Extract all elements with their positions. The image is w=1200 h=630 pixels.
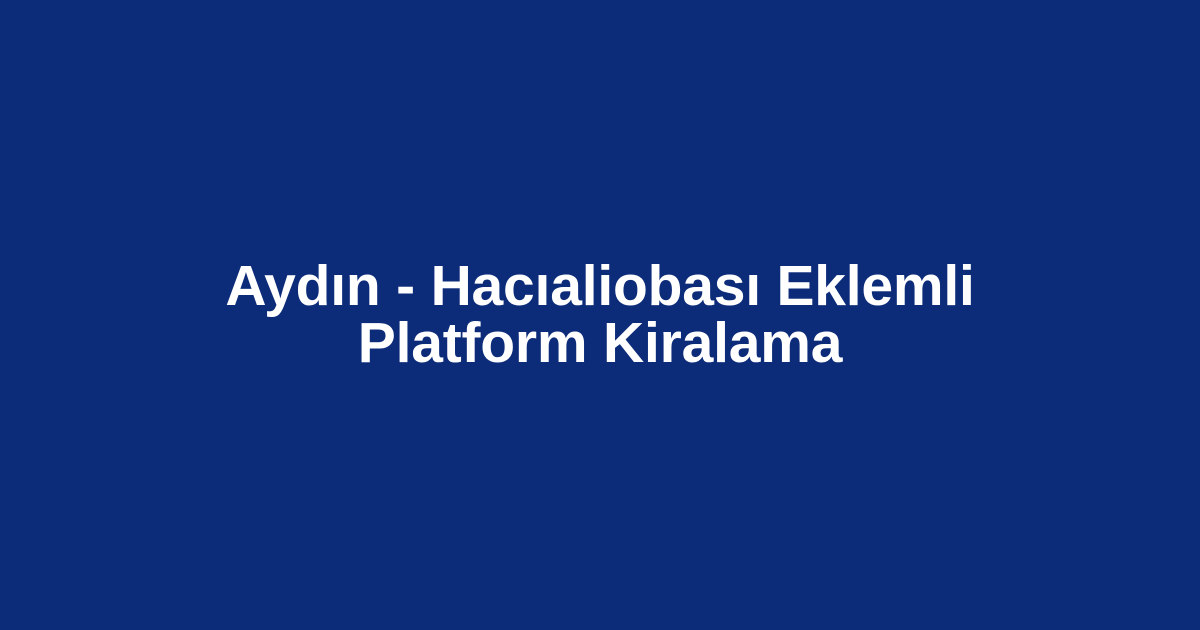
social-share-card: Aydın - Hacıaliobası Eklemli Platform Ki… <box>0 0 1200 630</box>
title-block: Aydın - Hacıaliobası Eklemli Platform Ki… <box>120 258 1080 372</box>
page-title: Aydın - Hacıaliobası Eklemli Platform Ki… <box>136 258 1064 372</box>
